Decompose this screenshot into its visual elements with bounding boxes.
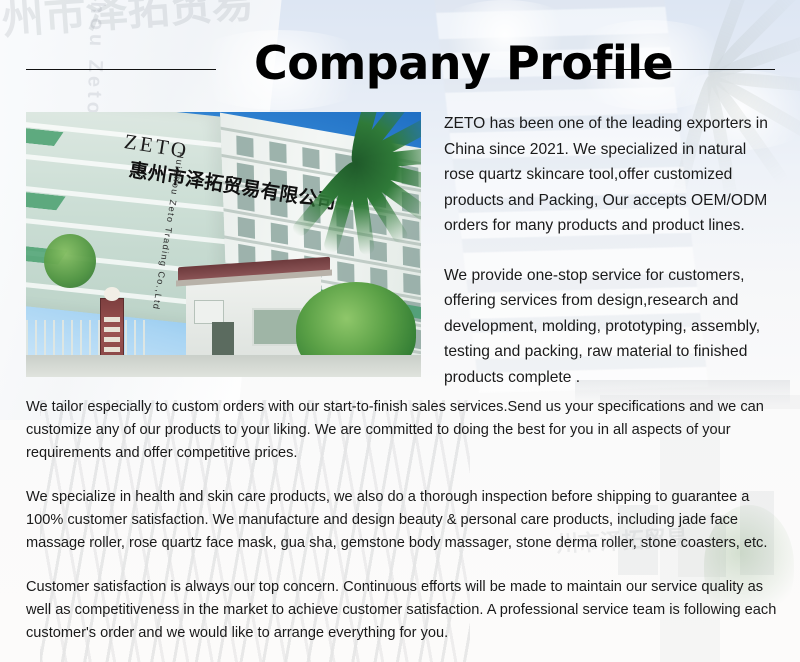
photo-window bbox=[403, 273, 420, 295]
photo-window bbox=[238, 217, 255, 239]
photo-notice-board bbox=[194, 300, 224, 324]
body-paragraph-2: We specialize in health and skin care pr… bbox=[26, 486, 778, 555]
intro-paragraph-1: ZETO has been one of the leading exporte… bbox=[444, 111, 774, 239]
photo-window bbox=[236, 135, 253, 157]
company-profile-page: 州市泽拓贸易 hou Zeto Trading Co 州市泽拓贸易 Compan… bbox=[0, 0, 800, 662]
page-title: Company Profile bbox=[254, 36, 673, 90]
factory-photo: ZETO 惠州市泽拓贸易有限公司 HuiZhou Zeto Trading Co… bbox=[26, 112, 421, 377]
photo-ground bbox=[26, 355, 421, 377]
photo-small-tree bbox=[44, 234, 96, 288]
intro-paragraph-2: We provide one-stop service for customer… bbox=[444, 263, 774, 391]
intro-column: ZETO has been one of the leading exporte… bbox=[444, 111, 774, 414]
header-rule-left bbox=[26, 69, 216, 70]
photo-palm-tree bbox=[277, 112, 421, 248]
photo-window bbox=[337, 261, 354, 283]
watermark-cjk-left: 州市泽拓贸易 bbox=[0, 0, 62, 48]
photo-window bbox=[403, 246, 420, 268]
photo-gate-lamp bbox=[104, 287, 120, 301]
body-paragraph-1: We tailor especially to custom orders wi… bbox=[26, 396, 778, 465]
photo-cjk-sign: 惠州市泽拓贸易有限公司 bbox=[127, 158, 157, 187]
body-text: We tailor especially to custom orders wi… bbox=[26, 396, 778, 645]
body-paragraph-3: Customer satisfaction is always our top … bbox=[26, 576, 778, 645]
photo-window bbox=[252, 308, 302, 346]
